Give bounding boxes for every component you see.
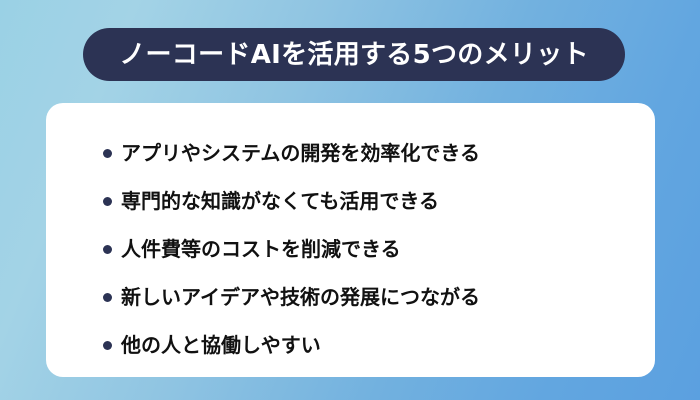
benefits-list: アプリやシステムの開発を効率化できる 専門的な知識がなくても活用できる 人件費等… (46, 129, 655, 369)
list-item: 新しいアイデアや技術の発展につながる (46, 273, 655, 321)
list-item-label: 他の人と協働しやすい (121, 334, 321, 356)
bullet-dot-icon (103, 197, 112, 206)
list-item-label: 専門的な知識がなくても活用できる (121, 190, 439, 212)
list-item: アプリやシステムの開発を効率化できる (46, 129, 655, 177)
list-item: 他の人と協働しやすい (46, 321, 655, 369)
bullet-dot-icon (103, 341, 112, 350)
bullet-dot-icon (103, 149, 112, 158)
list-item-label: アプリやシステムの開発を効率化できる (121, 142, 480, 164)
bullet-dot-icon (103, 245, 112, 254)
bullet-dot-icon (103, 293, 112, 302)
title-pill: ノーコードAIを活用する5つのメリット (83, 28, 625, 81)
benefits-card: アプリやシステムの開発を効率化できる 専門的な知識がなくても活用できる 人件費等… (46, 103, 655, 377)
list-item: 人件費等のコストを削減できる (46, 225, 655, 273)
list-item-label: 新しいアイデアや技術の発展につながる (121, 286, 480, 308)
page-title: ノーコードAIを活用する5つのメリット (119, 42, 589, 68)
infographic-slide: ノーコードAIを活用する5つのメリット アプリやシステムの開発を効率化できる 専… (0, 0, 700, 400)
list-item: 専門的な知識がなくても活用できる (46, 177, 655, 225)
list-item-label: 人件費等のコストを削減できる (121, 238, 401, 260)
